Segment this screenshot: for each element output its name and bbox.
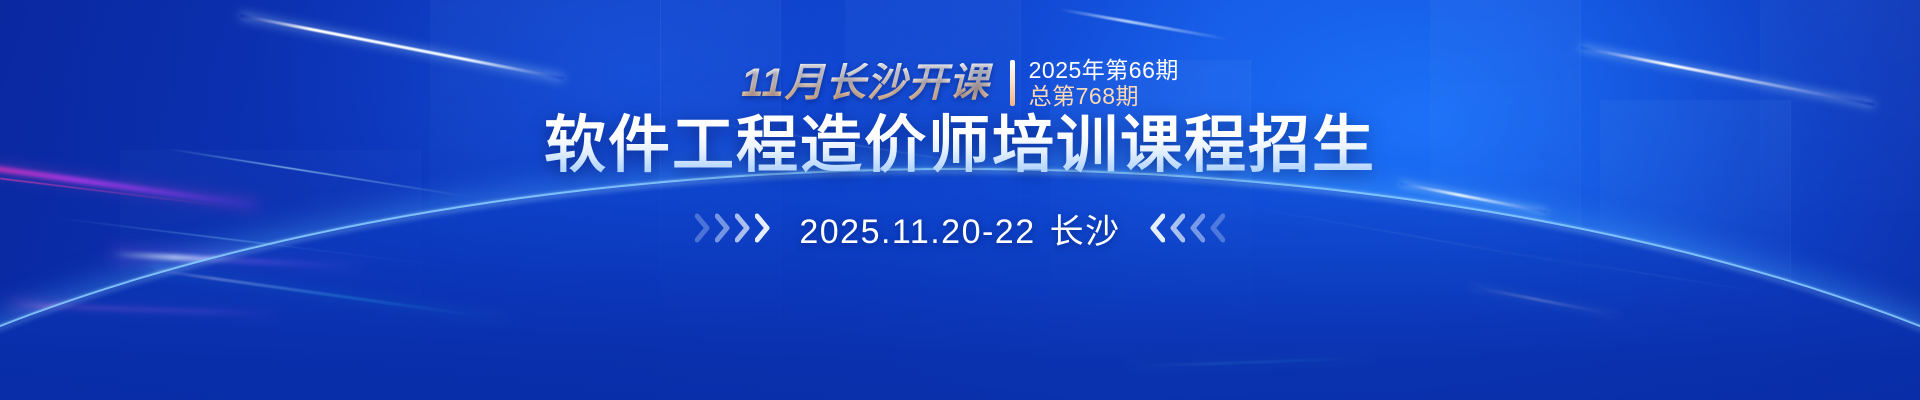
date-row: 2025.11.20-22长沙 [693, 206, 1226, 250]
chevron-right-icon [755, 213, 771, 243]
issue-total-session: 总第768期 [1029, 83, 1179, 109]
kicker-text: 11月长沙开课 [741, 63, 994, 103]
banner-headline: 软件工程造价师培训课程招生 [544, 112, 1376, 180]
banner-content: 11月长沙开课 2025年第66期 总第768期 软件工程造价师培训课程招生 [0, 0, 1920, 400]
chevron-left-icon [1149, 213, 1165, 243]
chevron-right-icon [715, 213, 731, 243]
vertical-divider [1010, 60, 1015, 106]
chevron-right-icon [695, 213, 711, 243]
chevron-left-icon [1169, 213, 1185, 243]
left-chevron-group [693, 213, 773, 243]
course-promo-banner: 11月长沙开课 2025年第66期 总第768期 软件工程造价师培训课程招生 [0, 0, 1920, 400]
chevron-left-icon [1209, 213, 1225, 243]
eyebrow-row: 11月长沙开课 2025年第66期 总第768期 [741, 56, 1179, 110]
chevron-right-icon [735, 213, 751, 243]
right-chevron-group [1147, 213, 1227, 243]
date-and-city: 2025.11.20-22长沙 [799, 204, 1120, 253]
date-text: 2025.11.20-22 [799, 213, 1035, 251]
chevron-left-icon [1189, 213, 1205, 243]
issue-year-session: 2025年第66期 [1029, 57, 1179, 83]
city-text: 长沙 [1050, 213, 1121, 251]
issue-info: 2025年第66期 总第768期 [1029, 57, 1179, 109]
